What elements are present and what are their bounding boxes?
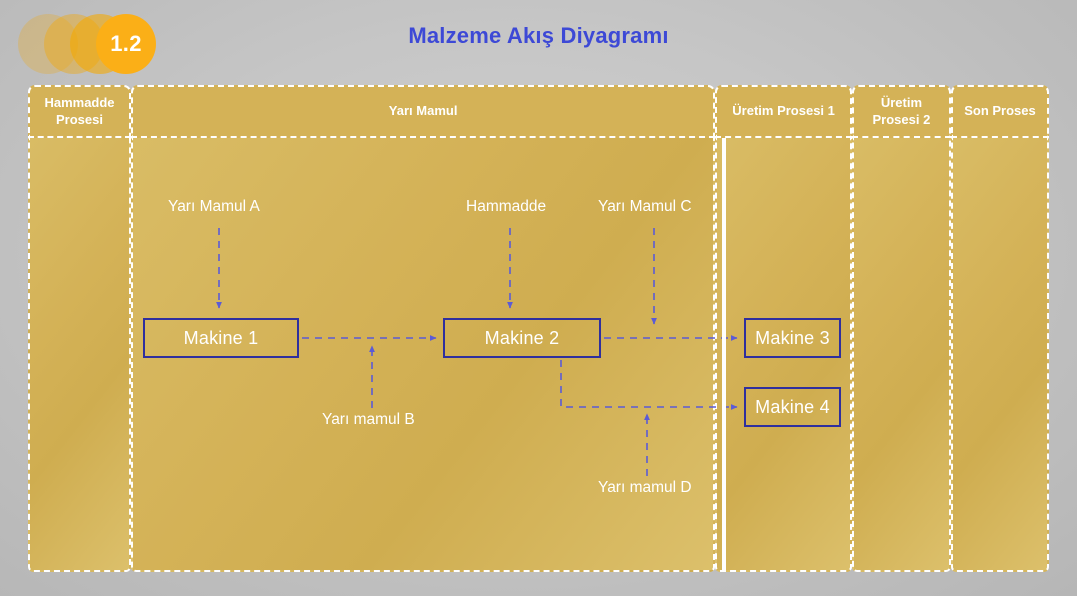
node-makine-2[interactable]: Makine 2 <box>443 318 601 358</box>
slide-canvas: 1.2 Malzeme Akış Diyagramı Hammadde Pros… <box>0 0 1077 596</box>
node-makine-4-label: Makine 4 <box>755 397 830 418</box>
flow-label-yari-mamul-a: Yarı Mamul A <box>168 198 260 216</box>
lane-divider-uretim-prosesi-1 <box>722 138 726 572</box>
lane-body-uretim-prosesi-2 <box>852 138 951 572</box>
lane-son-proses[interactable]: Son Proses <box>951 85 1049 572</box>
node-makine-4[interactable]: Makine 4 <box>744 387 841 427</box>
lane-header-uretim-prosesi-1: Üretim Prosesi 1 <box>715 85 852 138</box>
lane-body-son-proses <box>951 138 1049 572</box>
node-makine-1-label: Makine 1 <box>184 328 259 349</box>
lane-header-uretim-prosesi-2: Üretim Prosesi 2 <box>852 85 951 138</box>
lane-body-hammadde-prosesi <box>28 138 131 572</box>
lane-uretim-prosesi-2[interactable]: Üretim Prosesi 2 <box>852 85 951 572</box>
node-makine-3-label: Makine 3 <box>755 328 830 349</box>
flow-label-yari-mamul-b: Yarı mamul B <box>322 411 415 429</box>
flow-label-yari-mamul-d: Yarı mamul D <box>598 479 692 497</box>
lane-hammadde-prosesi[interactable]: Hammadde Prosesi <box>28 85 131 572</box>
node-makine-3[interactable]: Makine 3 <box>744 318 841 358</box>
lane-header-son-proses: Son Proses <box>951 85 1049 138</box>
node-makine-2-label: Makine 2 <box>485 328 560 349</box>
page-title: Malzeme Akış Diyagramı <box>0 23 1077 49</box>
flow-label-hammadde: Hammadde <box>466 198 546 216</box>
flow-label-yari-mamul-c: Yarı Mamul C <box>598 198 692 216</box>
lane-header-yari-mamul: Yarı Mamul <box>131 85 715 138</box>
node-makine-1[interactable]: Makine 1 <box>143 318 299 358</box>
lane-header-hammadde-prosesi: Hammadde Prosesi <box>28 85 131 138</box>
